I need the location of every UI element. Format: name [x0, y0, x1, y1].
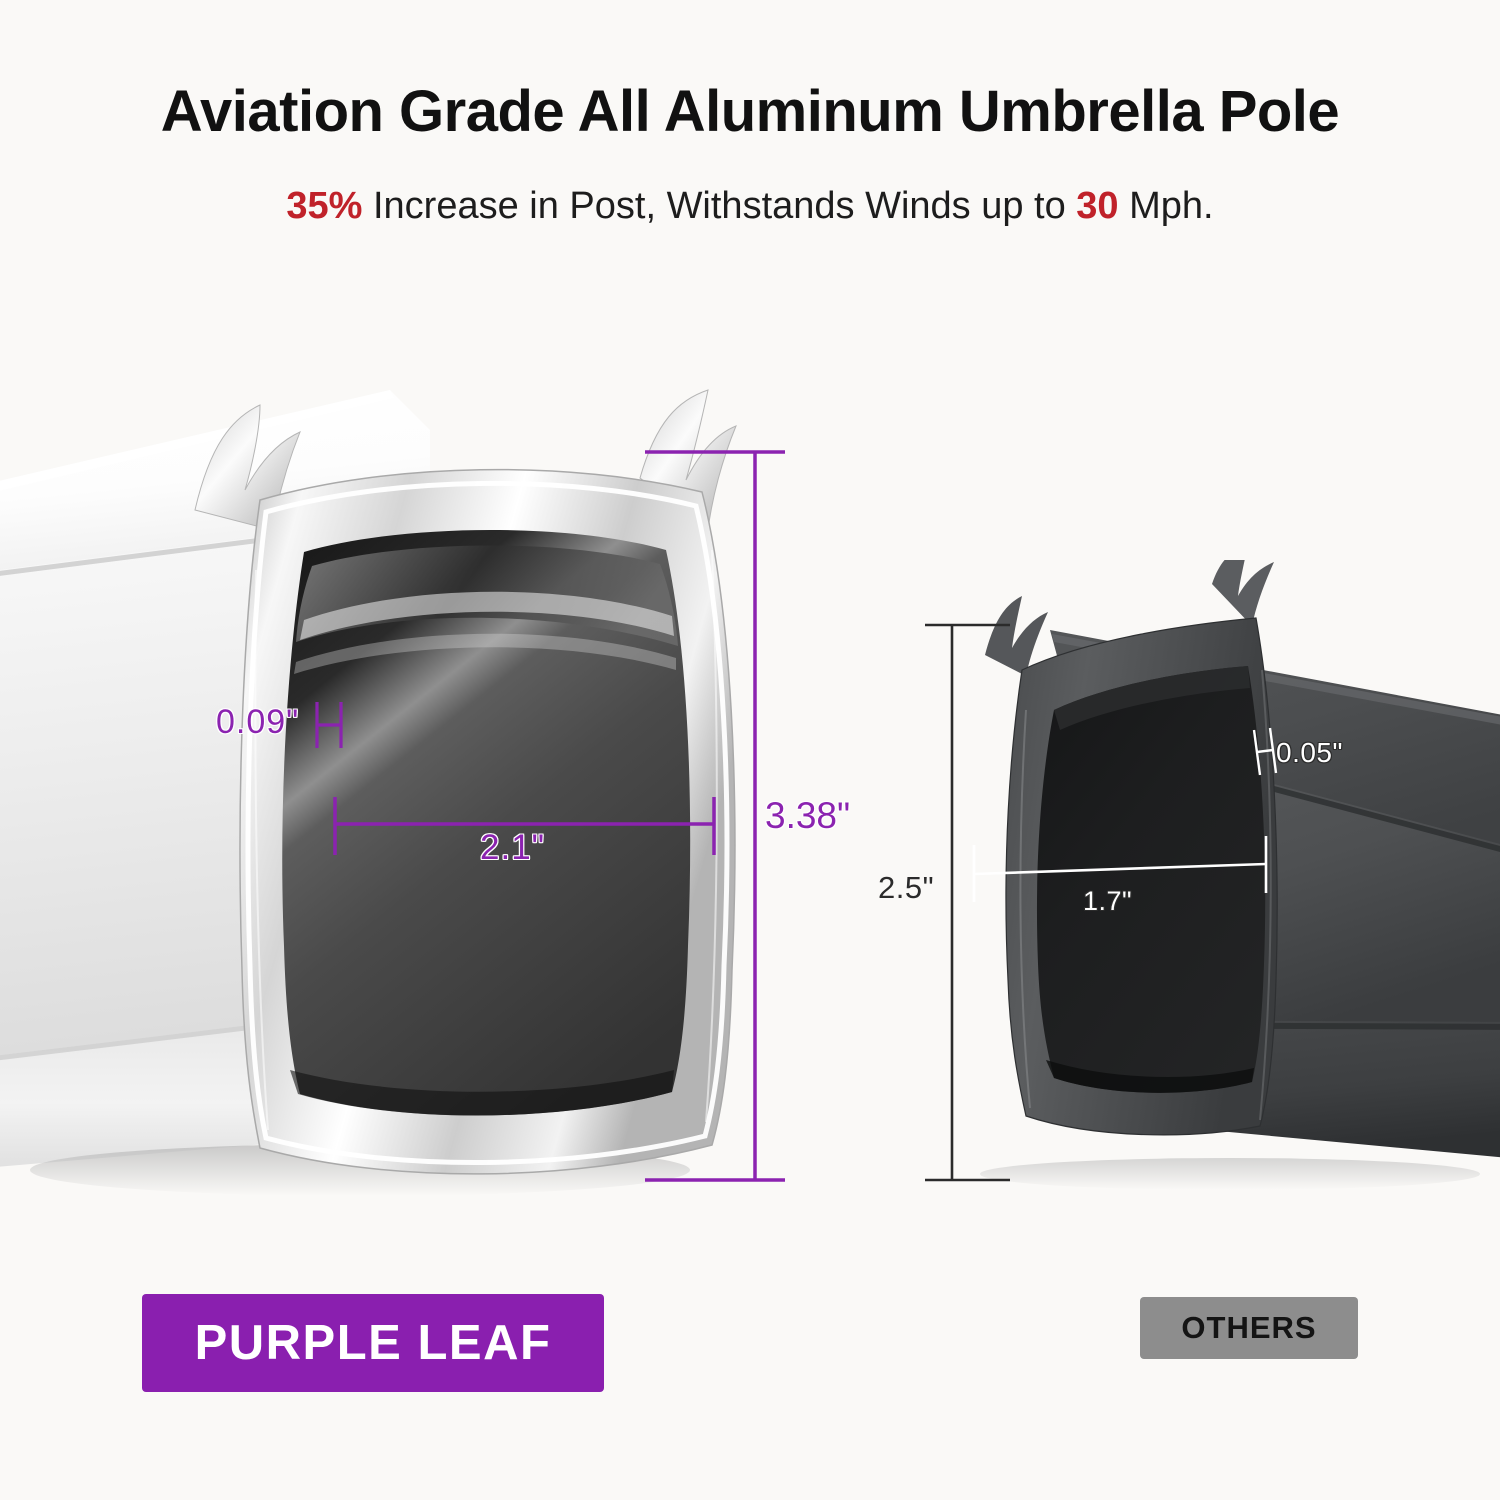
brand-badge-purple-leaf-label: PURPLE LEAF [195, 1315, 552, 1371]
subtitle-percent-accent: 35% [286, 185, 362, 227]
infographic-canvas: Aviation Grade All Aluminum Umbrella Pol… [0, 0, 1500, 1500]
dimension-label-height-right: 2.5" [878, 870, 934, 906]
others-pole-illustration [930, 560, 1500, 1220]
page-subtitle: 35% Increase in Post, Withstands Winds u… [0, 185, 1500, 228]
dimension-label-wall-thickness-left: 0.09" [216, 703, 299, 742]
pole-cavity-left [282, 530, 690, 1116]
dimension-label-width-left: 2.1" [480, 828, 545, 868]
subtitle-wind-accent: 30 [1076, 185, 1118, 227]
brand-badge-others[interactable]: OTHERS [1140, 1297, 1358, 1359]
page-title: Aviation Grade All Aluminum Umbrella Pol… [0, 78, 1500, 145]
subtitle-tail-text: Mph. [1119, 185, 1214, 227]
dimension-label-width-right: 1.7" [1083, 886, 1132, 917]
purple-leaf-pole-illustration [0, 370, 800, 1240]
dimension-label-height-left: 3.38" [765, 795, 850, 837]
brand-badge-others-label: OTHERS [1181, 1310, 1316, 1346]
pole-cavity-right [1037, 666, 1265, 1093]
dimension-label-wall-thickness-right: 0.05" [1276, 737, 1343, 769]
pole-shadow-right [980, 1158, 1480, 1190]
subtitle-middle-text: Increase in Post, Withstands Winds up to [362, 185, 1076, 227]
brand-badge-purple-leaf[interactable]: PURPLE LEAF [142, 1294, 604, 1392]
